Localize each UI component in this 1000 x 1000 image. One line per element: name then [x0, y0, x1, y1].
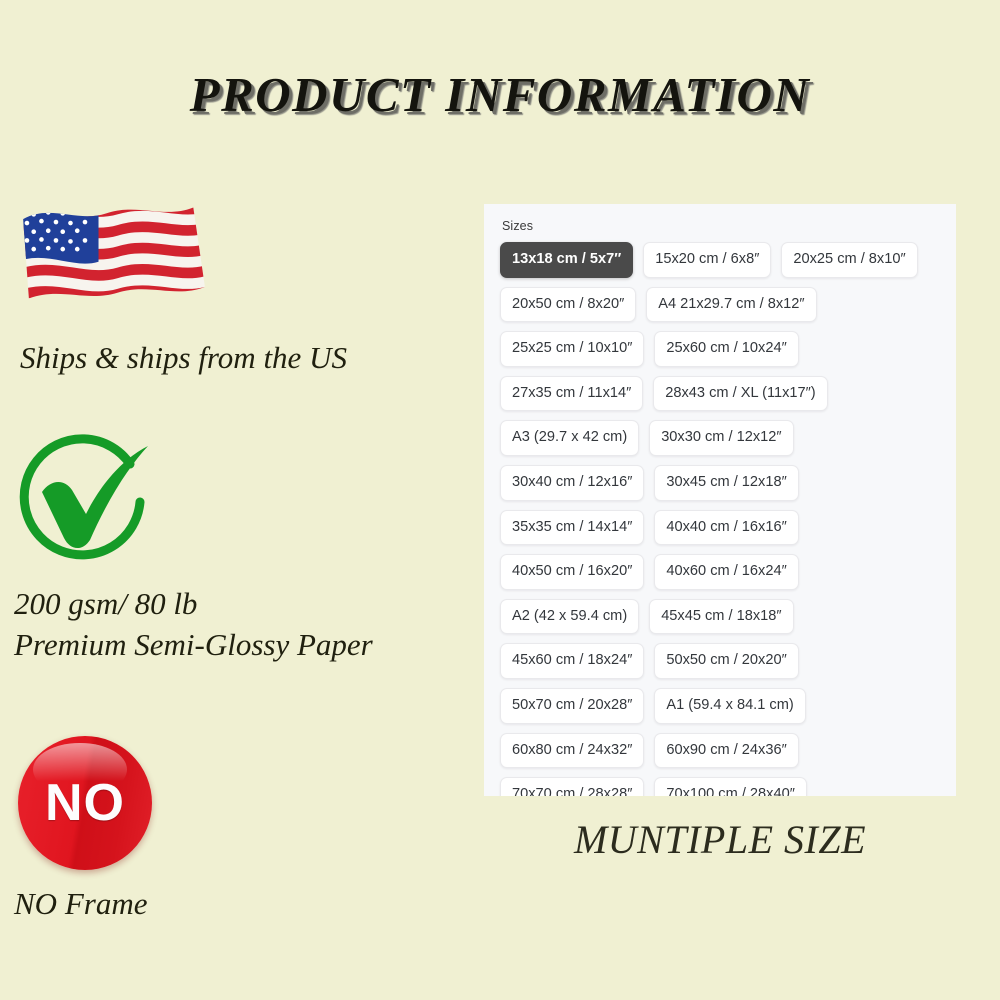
us-flag-icon	[16, 194, 212, 312]
no-badge-label: NO	[45, 777, 125, 829]
size-option-chip[interactable]: A4 21x29.7 cm / 8x12″	[646, 287, 816, 323]
size-option-chip[interactable]: 40x50 cm / 16x20″	[500, 554, 644, 590]
paper-type-line: Premium Semi-Glossy Paper	[14, 625, 373, 666]
size-option-chip[interactable]: 50x50 cm / 20x20″	[654, 643, 798, 679]
size-option-chip[interactable]: 30x40 cm / 12x16″	[500, 465, 644, 501]
sizes-panel: Sizes 13x18 cm / 5x7″15x20 cm / 6x8″20x2…	[484, 204, 956, 796]
size-option-chip[interactable]: 35x35 cm / 14x14″	[500, 510, 644, 546]
size-option-chip[interactable]: 20x25 cm / 8x10″	[781, 242, 917, 278]
green-check-icon	[12, 428, 162, 568]
size-option-chip[interactable]: 13x18 cm / 5x7″	[500, 242, 633, 278]
size-option-chip[interactable]: 15x20 cm / 6x8″	[643, 242, 771, 278]
sizes-label: Sizes	[502, 219, 942, 233]
size-option-chip[interactable]: 20x50 cm / 8x20″	[500, 287, 636, 323]
size-option-chip[interactable]: A1 (59.4 x 84.1 cm)	[654, 688, 805, 724]
size-option-chip[interactable]: 70x100 cm / 28x40″	[654, 777, 806, 796]
size-option-chip[interactable]: 60x90 cm / 24x36″	[654, 733, 798, 769]
size-option-chip[interactable]: 25x25 cm / 10x10″	[500, 331, 644, 367]
size-option-chip[interactable]: 60x80 cm / 24x32″	[500, 733, 644, 769]
size-option-chip[interactable]: 30x30 cm / 12x12″	[649, 420, 793, 456]
size-option-chip[interactable]: A3 (29.7 x 42 cm)	[500, 420, 639, 456]
size-option-chip[interactable]: 40x40 cm / 16x16″	[654, 510, 798, 546]
size-option-chip[interactable]: A2 (42 x 59.4 cm)	[500, 599, 639, 635]
size-option-chip[interactable]: 45x60 cm / 18x24″	[500, 643, 644, 679]
size-option-chip[interactable]: 25x60 cm / 10x24″	[654, 331, 798, 367]
size-option-chip[interactable]: 28x43 cm / XL (11x17″)	[653, 376, 827, 412]
no-badge-circle: NO	[18, 736, 152, 870]
size-options-list: 13x18 cm / 5x7″15x20 cm / 6x8″20x25 cm /…	[500, 242, 942, 796]
ships-from-us-caption: Ships & ships from the US	[20, 340, 347, 376]
no-frame-caption: NO Frame	[14, 886, 147, 922]
paper-weight-line: 200 gsm/ 80 lb	[14, 584, 373, 625]
size-option-chip[interactable]: 45x45 cm / 18x18″	[649, 599, 793, 635]
paper-quality-caption: 200 gsm/ 80 lb Premium Semi-Glossy Paper	[14, 584, 373, 666]
page-title: PRODUCT INFORMATION	[0, 66, 1000, 123]
multiple-size-caption: MUNTIPLE SIZE	[484, 816, 956, 863]
size-option-chip[interactable]: 50x70 cm / 20x28″	[500, 688, 644, 724]
size-option-chip[interactable]: 27x35 cm / 11x14″	[500, 376, 643, 412]
size-option-chip[interactable]: 70x70 cm / 28x28″	[500, 777, 644, 796]
size-option-chip[interactable]: 40x60 cm / 16x24″	[654, 554, 798, 590]
size-option-chip[interactable]: 30x45 cm / 12x18″	[654, 465, 798, 501]
no-badge-icon: NO	[18, 736, 152, 870]
